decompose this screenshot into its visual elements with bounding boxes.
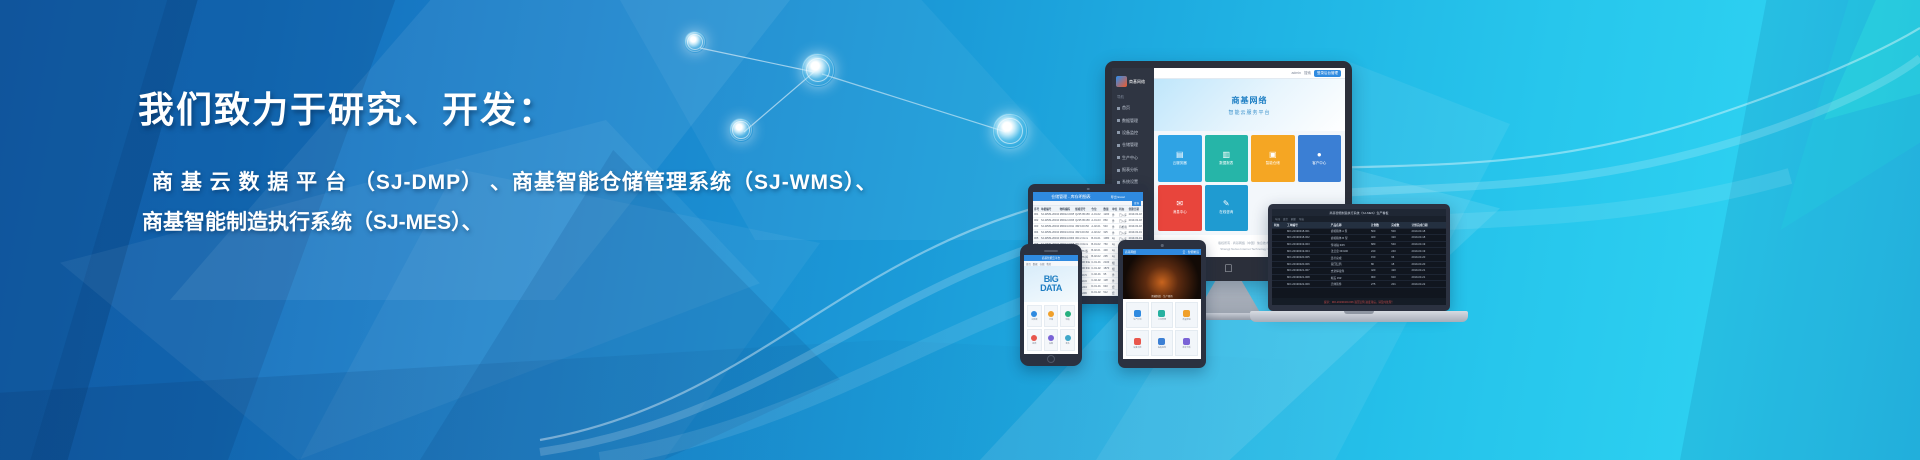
dashboard-tile-label: 在线咨询	[1219, 210, 1233, 215]
sidebar-section-label: 导航	[1112, 93, 1154, 102]
sidebar-item-label: 生产中心	[1122, 155, 1138, 161]
banner-text-block: 我们致力于研究、开发： 商 基 云 数 据 平 台 （SJ-DMP） 、商基智能…	[138, 88, 958, 243]
banner-body-line-1: 商 基 云 数 据 平 台 （SJ-DMP） 、商基智能仓储管理系统（SJ-WM…	[138, 163, 958, 203]
dashboard-hero-subtitle: 智能云服务平台	[1228, 109, 1270, 116]
table-cell: 工单编号	[1285, 223, 1329, 227]
table-cell: 2019-03-19	[1409, 243, 1446, 246]
table-cell: 2019-03-18	[1128, 225, 1143, 228]
table-cell: B-01-02	[1090, 243, 1102, 246]
mes-tile-grid: 生产计划工序管理质量检验设备点检看板监控统计分析	[1123, 299, 1201, 359]
toolbar-item[interactable]: 刷新	[1291, 217, 1296, 221]
toolbar-item[interactable]: 导出	[1299, 217, 1304, 221]
table-cell: 201	[1389, 283, 1409, 286]
phone-tile-label: 设备	[1049, 342, 1053, 345]
dashboard-tile-label: 消息中心	[1173, 210, 1187, 215]
table-cell: M0012-0035	[1059, 213, 1074, 216]
table-cell: 320	[1389, 236, 1409, 239]
table-cell: M0014-0004	[1059, 237, 1074, 240]
table-cell: 件	[1111, 225, 1118, 229]
sidebar-item-reports[interactable]: 报表分析	[1112, 164, 1154, 176]
table-cell: 创建日期	[1128, 207, 1143, 211]
dashboard-tile[interactable]: ▣ 智能仓储	[1251, 135, 1295, 182]
table-row[interactable]: MO-20190320-005连杆总成150962019-03-20	[1272, 255, 1446, 262]
table-cell: 状态	[1272, 223, 1285, 227]
table-cell: 2019-03-20	[1409, 256, 1446, 259]
sidebar-item-label: 设备监控	[1122, 130, 1138, 136]
chart-icon	[1117, 169, 1120, 172]
table-cell: 18	[1389, 263, 1409, 266]
table-cell: 45# 100×50	[1074, 225, 1090, 228]
table-cell: 2019-03-18	[1409, 236, 1446, 239]
home-icon	[1117, 107, 1120, 110]
table-cell: MO-20190320-006	[1285, 263, 1329, 266]
phone-tile-label: 制造	[1066, 318, 1070, 321]
search-icon[interactable]: 搜索	[1304, 71, 1311, 76]
table-cell: A-02-02	[1090, 231, 1102, 234]
box-icon: ▣	[1269, 151, 1277, 159]
phone-bezel: 商基智能云平台 首页数据仓储我的 BIG DATA 云数据仓储制造报表设备更多	[1020, 244, 1082, 366]
table-cell: 件	[1111, 231, 1118, 235]
phone-tile-label: 仓储	[1049, 318, 1053, 321]
table-cell: 仓位	[1090, 207, 1102, 211]
production-photo: 智能制造 · 生产现场	[1123, 255, 1201, 299]
brand-logo-text: 商基网络	[1129, 79, 1145, 85]
table-cell: 420	[1389, 269, 1409, 272]
table-row[interactable]: MO-20190321-007支架焊接件4204202019-03-21	[1272, 268, 1446, 275]
table-cell: 500	[1389, 230, 1409, 233]
table-cell: SJ-WMS-20190319	[1040, 231, 1059, 234]
box-icon	[1117, 144, 1120, 147]
laptop-lid: 商基智能制造执行系统（SJ-MES）生产看板 车间班次刷新导出 状态工单编号产品…	[1268, 204, 1450, 311]
dashboard-tile-label: 智能仓储	[1266, 161, 1280, 166]
table-cell: MO-20190318-001	[1285, 230, 1329, 233]
phone-hero: BIG DATA	[1024, 266, 1078, 302]
banner-body-line-2: 商基智能制造执行系统（SJ-MES）、	[138, 203, 958, 243]
table-cell: 640	[1102, 285, 1111, 288]
table-cell: 件	[1111, 213, 1118, 217]
phone-tile[interactable]: 制造	[1060, 305, 1075, 327]
table-cell: 已入库	[1118, 219, 1128, 223]
bg-shape-teal-right-2	[1824, 0, 1920, 120]
sidebar-item-production[interactable]: 生产中心	[1112, 152, 1154, 164]
mes-tile-label: 看板监控	[1158, 346, 1166, 349]
tablet-screen: 商基网络 云 · 智能制造 智能制造 · 生产现场 生产计划工序管理质量检验设备…	[1123, 249, 1201, 359]
dashboard-hero: 商基网络 智能云服务平台	[1154, 79, 1345, 131]
mes-board-title: 商基智能制造执行系统（SJ-MES）生产看板	[1272, 209, 1446, 216]
table-cell: 420	[1369, 269, 1389, 272]
tablet-mockup-small: 商基网络 云 · 智能制造 智能制造 · 生产现场 生产计划工序管理质量检验设备…	[1118, 240, 1206, 368]
monitor-icon: ▤	[1176, 151, 1184, 159]
laptop-screen: 商基智能制造执行系统（SJ-MES）生产看板 车间班次刷新导出 状态工单编号产品…	[1272, 209, 1446, 305]
phone-mockup: 商基智能云平台 首页数据仓储我的 BIG DATA 云数据仓储制造报表设备更多	[1020, 244, 1082, 366]
topbar-account[interactable]: admin	[1291, 71, 1301, 75]
mes-tile-label: 统计分析	[1183, 346, 1191, 349]
mes-tile[interactable]: 生产计划	[1126, 302, 1149, 328]
table-cell: SJ-WMS-20190319	[1040, 237, 1059, 240]
table-cell: 2019-03-18	[1409, 230, 1446, 233]
sidebar-item-warehouse[interactable]: 仓储管理	[1112, 139, 1154, 151]
sidebar-item-label: 报表分析	[1122, 167, 1138, 173]
table-cell: 240	[1389, 250, 1409, 253]
mes-tile[interactable]: 工序管理	[1151, 302, 1174, 328]
table-cell: C-02-02	[1090, 279, 1102, 282]
pencil-icon: ✎	[1223, 200, 1230, 208]
table-cell: 960	[1369, 276, 1389, 279]
table-cell: MO-20190321-007	[1285, 269, 1329, 272]
toolbar-item[interactable]: 班次	[1283, 217, 1288, 221]
table-cell: 件	[1111, 219, 1118, 223]
banner-body: 商 基 云 数 据 平 台 （SJ-DMP） 、商基智能仓储管理系统（SJ-WM…	[138, 163, 958, 243]
dashboard-tile-label: 客户中心	[1312, 161, 1326, 166]
tablet-bezel: 商基网络 云 · 智能制造 智能制造 · 生产现场 生产计划工序管理质量检验设备…	[1118, 240, 1206, 368]
table-cell: MO-20190321-008	[1285, 276, 1329, 279]
camera-icon	[1087, 188, 1090, 191]
dashboard-tile[interactable]: ● 客户中心	[1298, 135, 1342, 182]
table-row[interactable]: MO-20190318-002齿轮箱体 B 型3203202019-03-18	[1272, 235, 1446, 242]
sidebar-item-data[interactable]: 数据管理	[1112, 114, 1154, 126]
table-cell: M0013-0012	[1059, 231, 1074, 234]
brand-logo-icon	[1116, 76, 1127, 87]
speaker-icon	[1044, 250, 1058, 252]
phone-nav-item[interactable]: 首页	[1026, 262, 1031, 266]
table-cell: 计划数	[1369, 223, 1389, 227]
sidebar-item-label: 仓储管理	[1122, 142, 1138, 148]
monitor-icon	[1117, 131, 1120, 134]
table-cell: 已入库	[1118, 231, 1128, 235]
table-cell: 端盖 45#	[1329, 276, 1369, 280]
wms-title-text: 仓储管理 - 库存明细表	[1051, 194, 1091, 200]
laptop-notch	[1344, 311, 1374, 314]
tile-icon	[1031, 335, 1037, 341]
dashboard-topbar: admin 搜索 登录后台管理	[1154, 68, 1345, 79]
table-cell: 910	[1389, 276, 1409, 279]
table-cell: 240	[1369, 250, 1389, 253]
table-cell: 2019-03-19	[1409, 250, 1446, 253]
tile-icon	[1134, 338, 1141, 345]
table-cell: 275	[1369, 283, 1389, 286]
mail-icon: ✉	[1176, 200, 1183, 208]
table-cell: 003	[1033, 225, 1040, 228]
table-cell: 已入库	[1118, 213, 1128, 217]
table-cell: MO-20190319-004	[1285, 250, 1329, 253]
dashboard-tile[interactable]: ✉ 消息中心	[1158, 185, 1202, 232]
hero-line-2: DATA	[1040, 283, 1062, 293]
sidebar-item-label: 首页	[1122, 105, 1130, 111]
phone-nav-item[interactable]: 数据	[1033, 262, 1038, 266]
mes-alert-text: 提示：MO-20190320-006 液压缸筒 进度滞后，请及时处理！	[1272, 298, 1446, 305]
user-icon: ●	[1317, 151, 1322, 159]
table-cell: 产品名称	[1329, 223, 1369, 227]
table-cell: B-02-01	[1090, 249, 1102, 252]
phone-tile[interactable]: 设备	[1044, 329, 1059, 351]
table-cell: 物料编码	[1059, 207, 1074, 211]
table-cell: Q235 80×80×8	[1074, 219, 1090, 222]
mes-tile-label: 生产计划	[1133, 318, 1141, 321]
table-cell: 2019-03-22	[1409, 283, 1446, 286]
table-cell: B-02-02	[1090, 255, 1102, 258]
phone-tile[interactable]: 仓储	[1044, 305, 1059, 327]
dashboard-tile[interactable]: ✎ 在线咨询	[1205, 185, 1249, 232]
table-cell: A-01-03	[1090, 219, 1102, 222]
tile-icon	[1048, 311, 1054, 317]
table-cell: 295	[1102, 255, 1111, 258]
table-cell: 95	[1102, 273, 1111, 276]
mes-brand: 商基网络	[1125, 250, 1136, 254]
tile-icon	[1183, 310, 1190, 317]
table-cell: 传动轴 Φ45	[1329, 243, 1369, 247]
table-cell: 304 2.0mm	[1074, 237, 1090, 240]
table-cell: 320	[1369, 236, 1389, 239]
table-cell: Q235 80×80×6	[1074, 213, 1090, 216]
table-cell: 数量	[1102, 207, 1111, 211]
phone-tile-grid: 云数据仓储制造报表设备更多	[1024, 302, 1078, 354]
tile-icon	[1048, 335, 1054, 341]
query-button[interactable]: 查询	[1132, 201, 1141, 206]
bg-shape-teal-right	[1750, 0, 1920, 230]
bg-shape-bottom	[0, 340, 1920, 460]
table-cell: D-01-01	[1090, 285, 1102, 288]
mes-tile-label: 设备点检	[1133, 346, 1141, 349]
table-cell: 760	[1102, 243, 1111, 246]
mes-tile[interactable]: 统计分析	[1175, 330, 1198, 356]
network-node	[801, 53, 835, 87]
table-cell: 序号	[1033, 207, 1040, 211]
table-cell: 单位	[1111, 207, 1118, 211]
mes-tile[interactable]: 看板监控	[1151, 330, 1174, 356]
table-cell: SJ-WMS-20190318	[1040, 219, 1059, 222]
mes-tile[interactable]: 设备点检	[1126, 330, 1149, 356]
table-header-row: 状态工单编号产品名称计划数完成数计划完成日期	[1272, 222, 1446, 229]
dashboard-hero-title: 商基网络	[1232, 95, 1268, 106]
tile-icon	[1158, 310, 1165, 317]
hero-banner: 我们致力于研究、开发： 商 基 云 数 据 平 台 （SJ-DMP） 、商基智能…	[0, 0, 1920, 460]
table-cell: 齿轮箱体 A 型	[1329, 229, 1369, 233]
phone-tile-label: 云数据	[1031, 318, 1037, 321]
tile-icon	[1158, 338, 1165, 345]
table-cell: MO-20190320-005	[1285, 256, 1329, 259]
banner-body-line-1-text: 商 基 云 数 据 平 台 （SJ-DMP） 、商基智能仓储管理系统（SJ-WM…	[152, 171, 878, 194]
table-row[interactable]: MO-20190319-004法兰盘 DN1002402402019-03-19	[1272, 248, 1446, 255]
table-cell: 连杆总成	[1329, 256, 1369, 260]
table-cell: 2019-03-18	[1128, 213, 1143, 216]
table-cell: 325	[1102, 231, 1111, 234]
table-cell: 计划完成日期	[1409, 223, 1446, 227]
sidebar-item-devices[interactable]: 设备监控	[1112, 127, 1154, 139]
table-cell: 1870	[1102, 267, 1111, 270]
phone-nav-item[interactable]: 仓储	[1040, 262, 1045, 266]
mes-tile[interactable]: 质量检验	[1175, 302, 1198, 328]
table-cell: 80	[1369, 263, 1389, 266]
table-cell: 512	[1102, 291, 1111, 294]
mes-board-table: 状态工单编号产品名称计划数完成数计划完成日期MO-20190318-001齿轮箱…	[1272, 222, 1446, 298]
phone-tile-label: 更多	[1066, 342, 1070, 345]
table-row[interactable]: MO-20190318-001齿轮箱体 A 型5005002019-03-18	[1272, 229, 1446, 236]
toolbar-item[interactable]: 车间	[1275, 217, 1280, 221]
table-cell: 待检验	[1118, 225, 1128, 229]
camera-icon	[1161, 244, 1164, 247]
factory-icon	[1117, 156, 1120, 159]
phone-tile[interactable]: 报表	[1027, 329, 1042, 351]
phone-nav-item[interactable]: 我的	[1046, 262, 1051, 266]
table-cell: 完成数	[1389, 223, 1409, 227]
database-icon	[1117, 119, 1120, 122]
table-row[interactable]: MO-20190322-009壳体铸件2752012019-03-22	[1272, 281, 1446, 288]
sidebar-item-home[interactable]: 首页	[1112, 102, 1154, 114]
dashboard-tile[interactable]: ▥ 数据报表	[1205, 135, 1249, 182]
table-cell: B-01-01	[1090, 237, 1102, 240]
dashboard-tile-label: 数据报表	[1219, 161, 1233, 166]
chart-icon: ▥	[1222, 151, 1230, 159]
table-cell: 2100	[1102, 261, 1111, 264]
admin-login-button[interactable]: 登录后台管理	[1314, 70, 1341, 77]
table-cell: 540	[1102, 225, 1111, 228]
table-cell: C-01-01	[1090, 261, 1102, 264]
table-cell: 005	[1033, 237, 1040, 240]
table-cell: 150	[1369, 256, 1389, 259]
production-photo-caption: 智能制造 · 生产现场	[1123, 294, 1201, 298]
mes-tile-label: 质量检验	[1183, 318, 1191, 321]
table-cell: 128	[1102, 279, 1111, 282]
table-row[interactable]: MO-20190319-003传动轴 Φ456805402019-03-19	[1272, 242, 1446, 249]
tile-icon	[1031, 311, 1037, 317]
wms-table-title: 仓储管理 - 库存明细表 导出 Excel	[1033, 192, 1143, 201]
laptop-mockup: 商基智能制造执行系统（SJ-MES）生产看板 车间班次刷新导出 状态工单编号产品…	[1250, 204, 1468, 329]
table-cell: 单据编号	[1040, 207, 1059, 211]
table-cell: 96	[1389, 256, 1409, 259]
table-cell: A-02-01	[1090, 225, 1102, 228]
table-cell: 004	[1033, 231, 1040, 234]
table-cell: 齿轮箱体 B 型	[1329, 236, 1369, 240]
table-cell: 2019-03-21	[1409, 269, 1446, 272]
table-cell: 540	[1389, 243, 1409, 246]
table-cell: D-01-02	[1090, 291, 1102, 294]
device-mockup-cluster: 商基网络 导航 首页 数据管理 设备监控	[1010, 44, 1530, 364]
table-cell: 2019-03-21	[1409, 276, 1446, 279]
table-cell: SJ-WMS-20190318	[1040, 213, 1059, 216]
table-cell: 支架焊接件	[1329, 269, 1369, 273]
table-cell: 壳体铸件	[1329, 282, 1369, 286]
table-cell: MO-20190319-003	[1285, 243, 1329, 246]
phone-hero-text: BIG DATA	[1040, 275, 1062, 292]
dashboard-tile-label: 云服务器	[1173, 161, 1187, 166]
table-cell: 2019-03-20	[1409, 263, 1446, 266]
table-cell: C-01-02	[1090, 267, 1102, 270]
table-cell: 2019-03-18	[1128, 219, 1143, 222]
home-button[interactable]	[1047, 355, 1055, 363]
tile-icon	[1065, 335, 1071, 341]
mes-tile-label: 工序管理	[1158, 318, 1166, 321]
table-cell: MO-20190318-002	[1285, 236, 1329, 239]
bg-shape-dark-right	[1680, 0, 1920, 460]
table-cell: 001	[1033, 213, 1040, 216]
phone-screen: 商基智能云平台 首页数据仓储我的 BIG DATA 云数据仓储制造报表设备更多	[1024, 255, 1078, 354]
tile-icon	[1134, 310, 1141, 317]
table-cell: 1080	[1102, 237, 1111, 240]
dashboard-logo: 商基网络	[1112, 73, 1154, 93]
table-cell: 1200	[1102, 213, 1111, 216]
table-cell: 液压缸筒	[1329, 262, 1369, 266]
table-cell: 500	[1369, 230, 1389, 233]
phone-tile[interactable]: 云数据	[1027, 305, 1042, 327]
table-cell: 430	[1102, 249, 1111, 252]
table-cell: A-01-02	[1090, 213, 1102, 216]
table-cell: 860	[1102, 219, 1111, 222]
sidebar-item-label: 数据管理	[1122, 118, 1138, 124]
table-cell: SJ-WMS-20190318	[1040, 225, 1059, 228]
table-cell: C-02-01	[1090, 273, 1102, 276]
table-cell: M0012-0036	[1059, 219, 1074, 222]
table-cell: 法兰盘 DN100	[1329, 249, 1369, 253]
tile-icon	[1065, 311, 1071, 317]
table-cell: 002	[1033, 219, 1040, 222]
table-cell: 状态	[1118, 207, 1128, 211]
network-node	[684, 31, 706, 53]
mes-subtitle: 云 · 智能制造	[1183, 250, 1199, 254]
export-excel-button[interactable]: 导出 Excel	[1111, 195, 1125, 199]
dashboard-tile[interactable]: ▤ 云服务器	[1158, 135, 1202, 182]
banner-headline: 我们致力于研究、开发：	[138, 88, 958, 131]
table-cell: 680	[1369, 243, 1389, 246]
table-cell: M0013-0011	[1059, 225, 1074, 228]
table-cell: 45# 100×60	[1074, 231, 1090, 234]
table-row[interactable]: MO-20190321-008端盖 45#9609102019-03-21	[1272, 275, 1446, 282]
table-cell: MO-20190322-009	[1285, 283, 1329, 286]
table-row[interactable]: MO-20190320-006液压缸筒80182019-03-20	[1272, 262, 1446, 269]
table-cell: 规格型号	[1074, 207, 1090, 211]
table-cell: 2019-03-19	[1128, 231, 1143, 234]
phone-tile-label: 报表	[1032, 342, 1036, 345]
tile-icon	[1183, 338, 1190, 345]
phone-tile[interactable]: 更多	[1060, 329, 1075, 351]
